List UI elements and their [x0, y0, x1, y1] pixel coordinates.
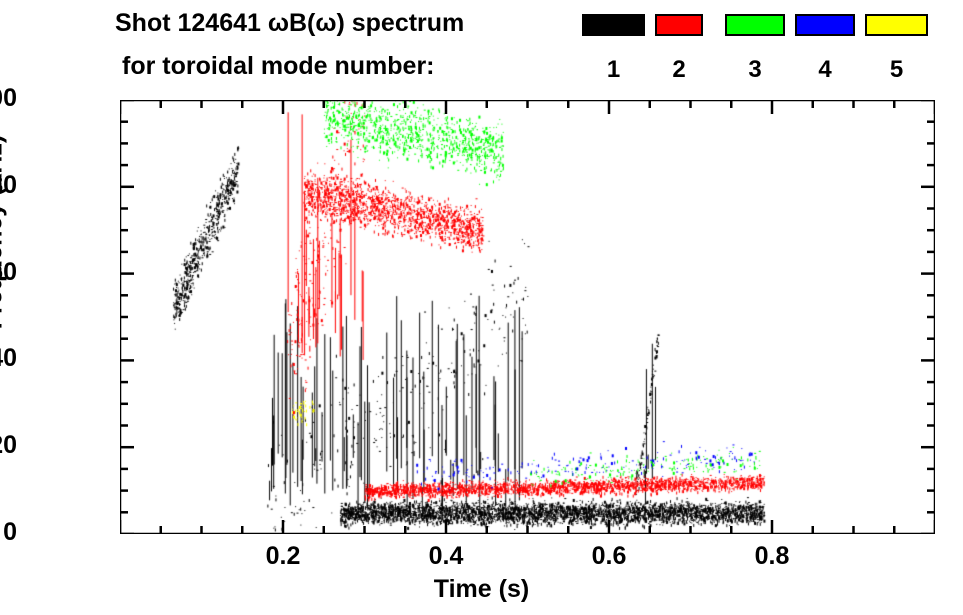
axis-frame	[120, 100, 935, 534]
x-tick-label: 0.6	[559, 542, 659, 571]
y-tick-label: 0	[0, 518, 17, 547]
y-tick-label: 100	[0, 84, 17, 113]
legend-label-mode-n5: 5	[877, 56, 917, 84]
figure-title-line2: for toroidal mode number:	[122, 52, 435, 81]
x-tick-label: 0.4	[396, 542, 496, 571]
legend-swatch-mode-n3	[725, 14, 785, 36]
legend-label-mode-n3: 3	[735, 56, 775, 84]
legend-label-mode-n4: 4	[805, 56, 845, 84]
legend-swatch-mode-n1	[582, 14, 645, 36]
y-axis-title: Frequency (kHz)	[0, 135, 9, 329]
legend-label-mode-n1: 1	[594, 56, 634, 84]
figure-title-line1: Shot 124641 ωB(ω) spectrum	[115, 9, 464, 38]
x-axis-title: Time (s)	[0, 575, 963, 604]
y-tick-label: 60	[0, 258, 17, 287]
plot-area	[120, 100, 935, 534]
legend-swatch-mode-n5	[865, 14, 928, 36]
legend-swatch-mode-n4	[795, 14, 855, 36]
y-tick-label: 40	[0, 344, 17, 373]
legend-label-mode-n2: 2	[659, 56, 699, 84]
y-tick-label: 80	[0, 171, 17, 200]
y-tick-label: 20	[0, 431, 17, 460]
x-tick-label: 0.8	[722, 542, 822, 571]
spectrogram-figure: Shot 124641 ωB(ω) spectrum for toroidal …	[0, 0, 963, 615]
legend-swatch-mode-n2	[655, 14, 703, 36]
x-tick-label: 0.2	[233, 542, 333, 571]
